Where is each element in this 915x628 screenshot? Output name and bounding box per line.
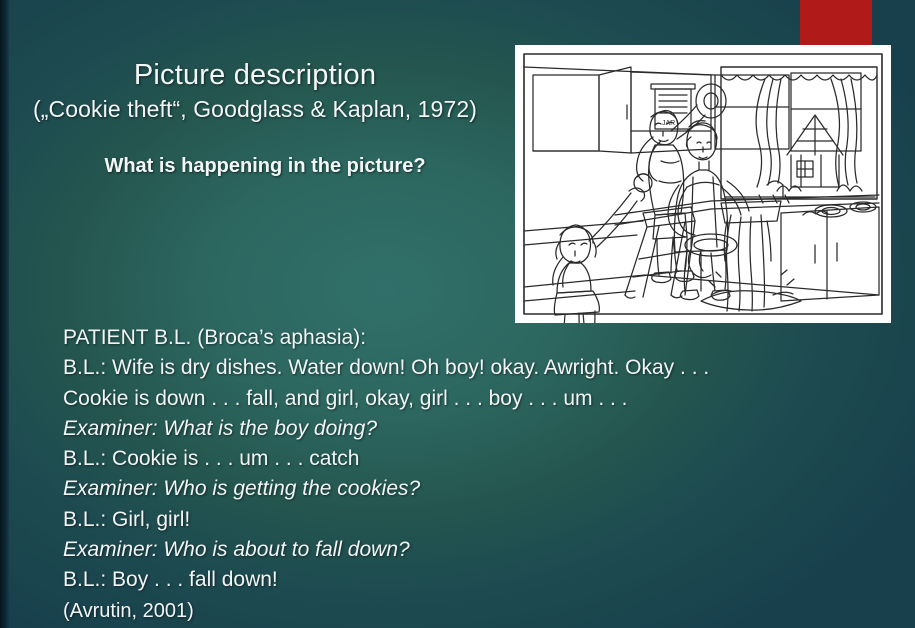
red-accent-rectangle: [800, 0, 872, 45]
title-block: Picture description („Cookie theft“, Goo…: [0, 58, 510, 124]
cookie-theft-illustration: JAR: [515, 45, 891, 323]
transcript-citation: (Avrutin, 2001): [63, 596, 908, 626]
slide-subtitle: („Cookie theft“, Goodglass & Kaplan, 197…: [0, 94, 510, 124]
transcript-line-examiner: Examiner: Who is getting the cookies?: [63, 474, 908, 504]
transcript-line-examiner: Examiner: Who is about to fall down?: [63, 535, 908, 565]
transcript-line: B.L.: Boy . . . fall down!: [63, 565, 908, 595]
prompt-question: What is happening in the picture?: [0, 155, 530, 178]
patient-transcript: PATIENT B.L. (Broca’s aphasia): B.L.: Wi…: [63, 323, 908, 626]
transcript-line: B.L.: Girl, girl!: [63, 505, 908, 535]
cookie-theft-picture: JAR: [515, 45, 891, 323]
transcript-line-examiner: Examiner: What is the boy doing?: [63, 414, 908, 444]
presentation-slide: Picture description („Cookie theft“, Goo…: [0, 0, 915, 628]
transcript-line: B.L.: Cookie is . . . um . . . catch: [63, 444, 908, 474]
transcript-heading: PATIENT B.L. (Broca’s aphasia):: [63, 323, 908, 353]
transcript-line: Cookie is down . . . fall, and girl, oka…: [63, 384, 908, 414]
slide-title: Picture description: [0, 58, 510, 92]
transcript-line: B.L.: Wife is dry dishes. Water down! Oh…: [63, 353, 908, 383]
